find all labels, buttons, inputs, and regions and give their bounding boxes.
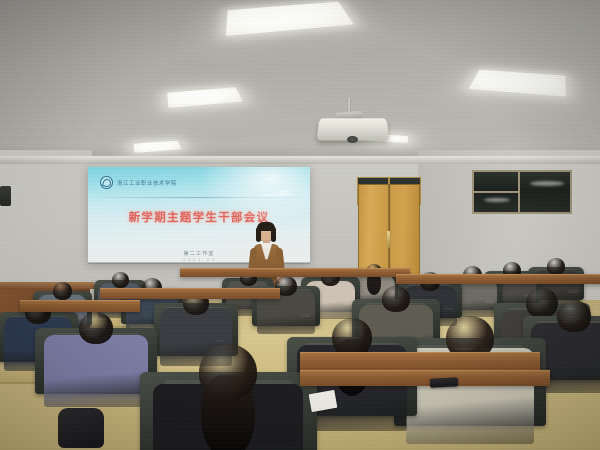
window-mullion <box>518 172 520 212</box>
desk-row-front-lip <box>300 370 550 386</box>
slide-logo: 浙江工业职业技术学院 <box>100 176 177 189</box>
audience-head <box>526 288 558 318</box>
desk-row-left <box>20 300 140 312</box>
audience-head <box>53 282 72 300</box>
smartphone-on-desk[interactable] <box>430 377 458 387</box>
presenter-hair-left <box>256 227 261 242</box>
clerestory-window <box>472 170 572 214</box>
slide-logo-text: 浙江工业职业技术学院 <box>117 179 177 187</box>
slide-divider <box>96 197 302 198</box>
university-crest-icon <box>100 176 113 189</box>
audience-head <box>79 312 113 344</box>
window-sash <box>474 191 518 193</box>
audience-head <box>557 300 591 332</box>
audience-head <box>332 318 372 356</box>
presenter-hair-right <box>271 227 276 242</box>
desk-row-third <box>100 288 280 299</box>
projector-lens-icon <box>347 136 358 143</box>
audience-torso <box>44 335 148 407</box>
audience-head <box>547 258 565 275</box>
lecture-hall-photo: 浙江工业职业技术学院 新学期主题学生干部会议 第二工作室 2 0 2 1 . 0… <box>0 0 600 450</box>
desk-row-back-right <box>396 274 600 284</box>
window-reflection <box>484 198 510 202</box>
backpack-on-floor <box>58 408 104 448</box>
podium-top-surface <box>0 282 94 289</box>
window-reflection <box>530 181 564 186</box>
audience-head <box>112 272 129 288</box>
audience-head <box>199 344 257 400</box>
audience-head <box>382 286 410 312</box>
ceiling-wall-trim <box>0 156 600 164</box>
wall-speaker <box>0 186 11 206</box>
desk-row-back <box>180 268 410 277</box>
door-handle[interactable] <box>387 231 390 248</box>
